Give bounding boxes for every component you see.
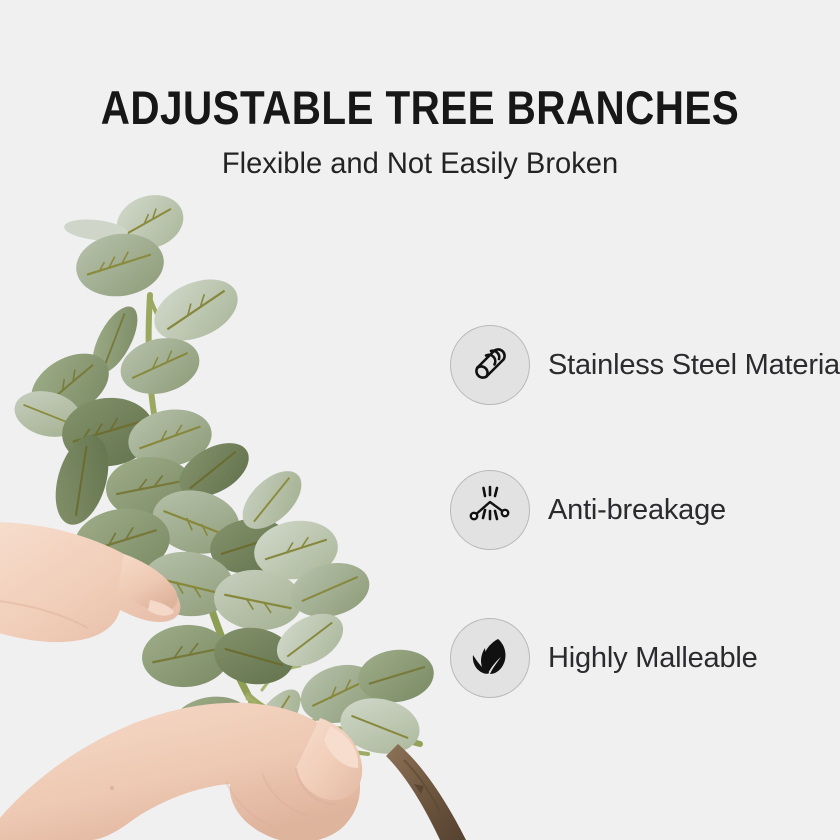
page-title: ADJUSTABLE TREE BRANCHES (59, 82, 781, 134)
product-feature-page: ADJUSTABLE TREE BRANCHES Flexible and No… (0, 0, 840, 840)
leaves-icon (469, 635, 511, 682)
feature-badge (450, 325, 530, 405)
product-photo (0, 170, 470, 840)
feature-item-highly-malleable: Highly Malleable (450, 618, 758, 698)
feature-item-stainless-steel: Stainless Steel Material (450, 325, 840, 405)
steel-rod-icon (468, 341, 512, 390)
wooden-branch-end (386, 744, 466, 840)
header: ADJUSTABLE TREE BRANCHES Flexible and No… (0, 82, 840, 181)
bent-rod-icon (467, 485, 513, 536)
feature-label: Anti-breakage (548, 493, 726, 527)
feature-label: Highly Malleable (548, 641, 758, 675)
page-subtitle: Flexible and Not Easily Broken (13, 147, 828, 181)
feature-badge (450, 618, 530, 698)
feature-badge (450, 470, 530, 550)
hand-lower-right (0, 703, 362, 840)
feature-label: Stainless Steel Material (548, 348, 840, 382)
feature-item-anti-breakage: Anti-breakage (450, 470, 726, 550)
